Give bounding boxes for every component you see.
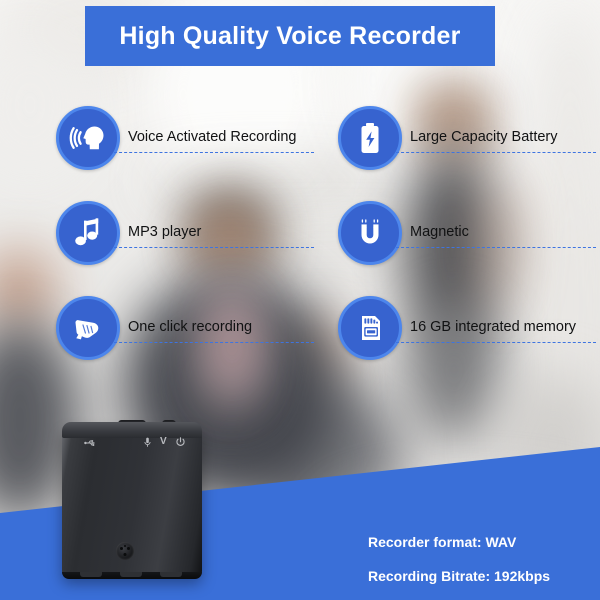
device-foot-left [80, 572, 102, 577]
feature-text-wrap: Voice Activated Recording [128, 128, 296, 149]
feature-label: Voice Activated Recording [128, 128, 296, 146]
power-icon [176, 437, 185, 449]
speaker-grille [116, 542, 134, 560]
feature-item-magnetic: Magnetic [338, 201, 469, 265]
feature-item-mp3-player: MP3 player [56, 201, 201, 265]
feature-dashed-underline [396, 247, 596, 248]
feature-dashed-underline [396, 342, 596, 343]
feature-text-wrap: 16 GB integrated memory [410, 318, 576, 339]
device-bottom-edge [62, 572, 202, 579]
title-banner: High Quality Voice Recorder [85, 6, 495, 66]
feature-label: 16 GB integrated memory [410, 318, 576, 336]
usb-icon [84, 438, 97, 450]
spec-recorder-format: Recorder format: WAV [368, 534, 600, 551]
device-v-marking: V [160, 436, 167, 447]
page-title: High Quality Voice Recorder [119, 22, 460, 51]
feature-text-wrap: MP3 player [128, 223, 201, 244]
feature-label: Large Capacity Battery [410, 128, 558, 146]
voice-recorder-device: V [58, 420, 208, 580]
feature-list: Voice Activated Recording Large Capacity… [0, 98, 600, 378]
pointing-hand-click-icon [56, 296, 120, 360]
feature-item-large-capacity-battery: Large Capacity Battery [338, 106, 558, 170]
feature-dashed-underline [114, 247, 314, 248]
device-top-glyph-row: V [62, 435, 202, 453]
feature-label: Magnetic [410, 223, 469, 241]
feature-label: One click recording [128, 318, 252, 336]
battery-bolt-icon [338, 106, 402, 170]
feature-dashed-underline [114, 342, 314, 343]
feature-item-voice-activated-recording: Voice Activated Recording [56, 106, 296, 170]
spec-recording-bitrate: Recording Bitrate: 192kbps [368, 568, 600, 585]
feature-label: MP3 player [128, 223, 201, 241]
music-note-icon [56, 201, 120, 265]
sd-memory-card-icon [338, 296, 402, 360]
horseshoe-magnet-icon [338, 201, 402, 265]
feature-dashed-underline [114, 152, 314, 153]
feature-item-16gb-memory: 16 GB integrated memory [338, 296, 576, 360]
device-foot-right [160, 572, 182, 577]
feature-text-wrap: Large Capacity Battery [410, 128, 558, 149]
product-feature-image: High Quality Voice Recorder Voice Activa… [0, 0, 600, 600]
microphone-icon [144, 437, 151, 450]
voice-speaking-head-icon [56, 106, 120, 170]
footer-spec-text: Recorder format: WAV Recording Bitrate: … [368, 534, 600, 585]
feature-dashed-underline [396, 152, 596, 153]
feature-text-wrap: One click recording [128, 318, 252, 339]
feature-item-one-click-recording: One click recording [56, 296, 252, 360]
feature-text-wrap: Magnetic [410, 223, 469, 244]
device-foot-mid [120, 572, 142, 577]
